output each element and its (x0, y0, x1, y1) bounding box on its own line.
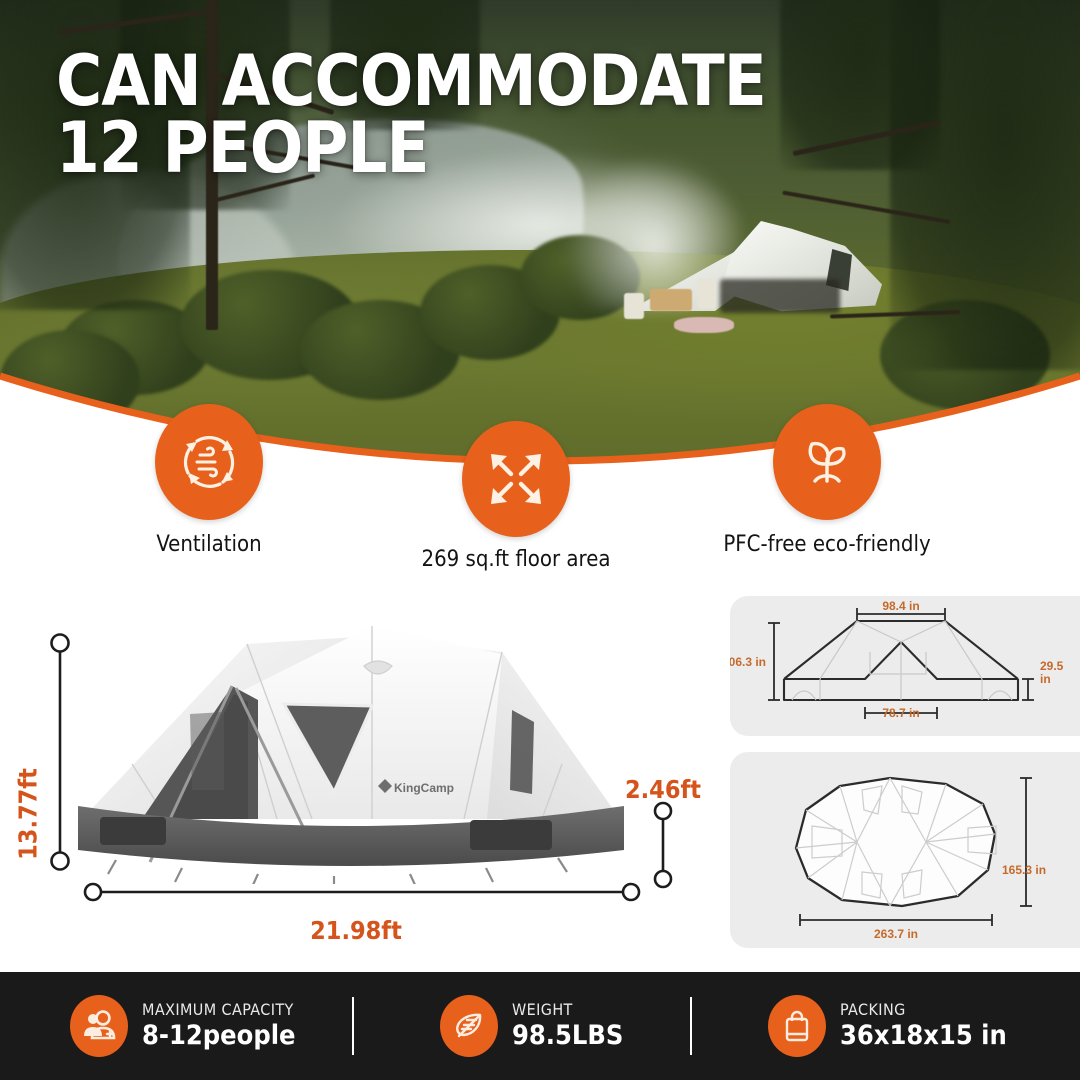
top-view-panel: 165.3 in 263.7 in (730, 752, 1080, 948)
height-callout-line (48, 632, 72, 872)
spec-bar: MAXIMUM CAPACITY 8-12people WEIGHT 98.5L… (0, 972, 1080, 1080)
feature-badge-circle (773, 404, 881, 520)
sidewall-dimension-label: 2.46ft (625, 775, 701, 804)
picnic-blanket (674, 317, 734, 333)
spec-packing[interactable]: PACKING 36x18x15 in (768, 995, 1007, 1057)
conifer-tree (780, 0, 940, 170)
floor-outline (796, 778, 995, 906)
dim-eave-height-label: 29.5in (1040, 659, 1064, 686)
feature-badge-circle (462, 421, 570, 537)
side-inner-lines (792, 621, 1012, 700)
ventilation-icon (177, 430, 241, 494)
product-dimension-section: 13.77ft 2.46ft 21.98ft (0, 600, 710, 950)
camp-tent-in-photo (628, 205, 878, 330)
spec-icon-circle (768, 995, 826, 1057)
dim-floor-width-line (1020, 778, 1032, 906)
dim-door-width-label: 78.7 in (882, 706, 919, 720)
spec-value: 36x18x15 in (840, 1020, 1007, 1051)
spec-key: PACKING (840, 1000, 1007, 1020)
feature-label: PFC-free eco-friendly (723, 532, 930, 557)
spec-weight[interactable]: WEIGHT 98.5LBS (440, 995, 623, 1057)
feature-ventilation[interactable]: Ventilation (155, 404, 263, 520)
spec-maximum-capacity[interactable]: MAXIMUM CAPACITY 8-12people (70, 995, 296, 1057)
spec-divider (690, 997, 692, 1055)
camp-table (650, 289, 692, 311)
expand-arrows-icon (485, 448, 547, 510)
dim-floor-length-line (800, 914, 992, 926)
dim-peak-height-label: 106.3 in (730, 655, 766, 669)
spec-icon-circle (440, 995, 498, 1057)
spec-divider (352, 997, 354, 1055)
spec-value: 8-12people (142, 1020, 296, 1051)
people-plus-icon (81, 1008, 117, 1044)
width-dimension-label: 21.98ft (310, 916, 402, 945)
page-title: CAN ACCOMMODATE 12 PEOPLE (56, 48, 766, 182)
feature-eco-friendly[interactable]: PFC-free eco-friendly (773, 404, 881, 520)
tent-side-vent (100, 817, 166, 845)
height-dimension-label: 13.77ft (14, 768, 43, 860)
feature-label: 269 sq.ft floor area (421, 547, 610, 572)
spec-key: MAXIMUM CAPACITY (142, 1000, 296, 1020)
dim-floor-length-label: 263.7 in (874, 927, 918, 941)
camp-chair (698, 279, 716, 309)
feather-icon (451, 1008, 487, 1044)
tent-side-vent (470, 820, 552, 850)
spec-key: WEIGHT (512, 1000, 623, 1020)
side-view-panel: 98.4 in 106.3 in 29.5in 78.7 in (730, 596, 1080, 736)
dim-eave-height-line (1022, 679, 1034, 700)
dim-peak-width-label: 98.4 in (882, 599, 919, 613)
spec-value: 98.5LBS (512, 1020, 623, 1051)
tent-shadow (720, 279, 840, 313)
brand-name: KingCamp (394, 781, 454, 795)
sidewall-callout-line (651, 800, 675, 890)
dim-floor-width-label: 165.3 in (1002, 863, 1046, 877)
feature-floor-area[interactable]: 269 sq.ft floor area (462, 421, 570, 537)
feature-badge-circle (155, 404, 263, 520)
camp-chair (624, 293, 644, 319)
eco-leaf-icon (796, 431, 858, 493)
feature-label: Ventilation (156, 532, 261, 557)
spec-icon-circle (70, 995, 128, 1057)
dim-peak-height-line (768, 623, 780, 700)
tent-corner-panel (190, 712, 224, 790)
floor-plan-diagram: 165.3 in 263.7 in (730, 752, 1080, 948)
tent-product-photo: KingCamp (72, 614, 632, 884)
side-elevation-diagram: 98.4 in 106.3 in 29.5in 78.7 in (730, 596, 1080, 736)
packing-bag-icon (779, 1008, 815, 1044)
tent-corner-panel (510, 710, 534, 794)
